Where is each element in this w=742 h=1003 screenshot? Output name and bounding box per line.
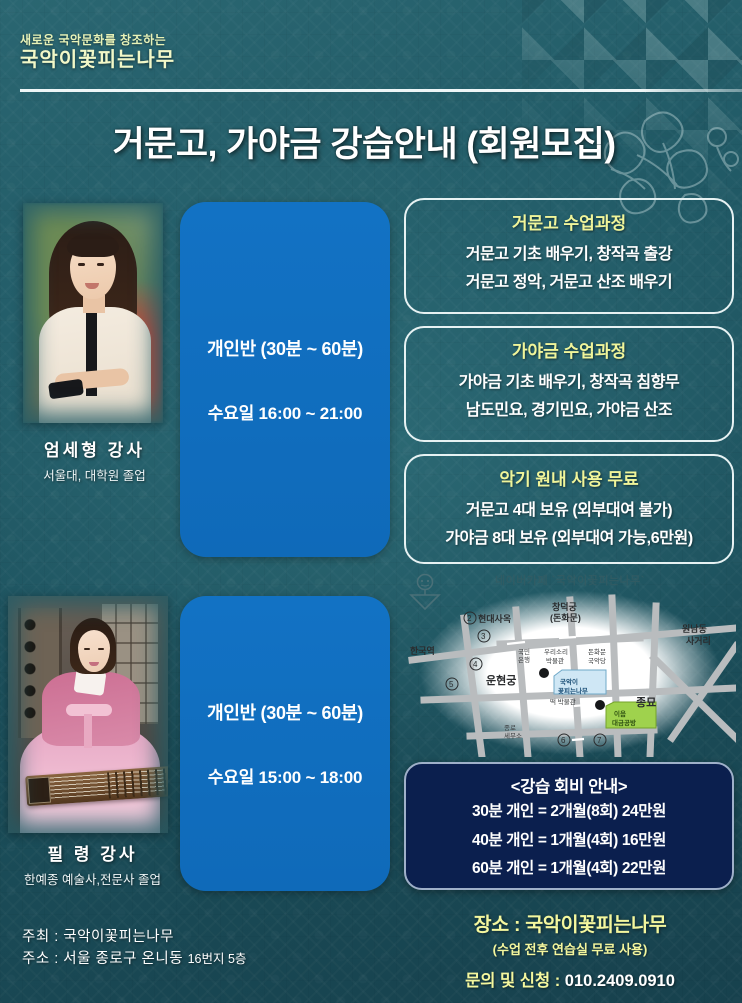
instructor-photo-1: [23, 203, 163, 423]
page-title: 거문고, 가야금 강습안내 (회원모집): [0, 116, 728, 167]
course-1-line-2: 거문고 정악, 거문고 산조 배우기: [414, 269, 724, 297]
fee-row-60min: 60분 개인 = 1개월(4회) 22만원: [406, 856, 732, 883]
map-marker-workshop: [595, 700, 605, 710]
map-label-hyundai: 현대사옥: [478, 613, 511, 624]
map-label-jongno-tax-2: 세무소: [504, 731, 522, 740]
map-label-jongno-tax: 종로: [504, 724, 516, 732]
instructor-caption-2: 필 령 강사 한예종 예술사,전문사 졸업: [0, 840, 185, 888]
footer-place: 장소 : 국악이꽃피는나무: [404, 908, 736, 937]
instructor-1-credentials: 서울대, 대학원 졸업: [2, 465, 187, 484]
map-label-woori-museum-2: 박물관: [546, 656, 564, 665]
map-exit-7: 7: [597, 736, 602, 745]
map-marker-venue: [539, 668, 549, 678]
instructor-photo-2: [8, 596, 168, 833]
map-label-jongmyo: 종묘: [636, 696, 656, 709]
brand-name: 국악이꽃피는나무: [20, 48, 175, 73]
instructor-caption-1: 엄세형 강사 서울대, 대학원 졸업: [2, 436, 187, 484]
map-exit-2: 2: [467, 614, 472, 623]
photo-2-calligraphy-characters: [24, 616, 36, 726]
footer-address: 주소 : 서울 종로구 온니동 16번지 5층: [22, 948, 246, 970]
brand-logo: 새로운 국악문화를 창조하는 국악이꽃피는나무: [20, 33, 175, 73]
footer-place-note: (수업 전후 연습실 무료 사용): [404, 939, 736, 958]
instructor-2-credentials: 한예종 예술사,전문사 졸업: [0, 869, 185, 888]
fee-row-30min: 30분 개인 = 2개월(8회) 24만원: [406, 799, 732, 826]
map-exit-5: 5: [449, 680, 454, 689]
course-2-line-2: 남도민요, 경기민요, 가야금 산조: [414, 397, 724, 425]
gayageum-headplate: [27, 777, 51, 804]
argyle-diamond-pattern: [522, 0, 742, 205]
map-label-unhyeongung: 운현궁: [486, 673, 516, 687]
course-3-line-1: 거문고 4대 보유 (외부대여 불가): [414, 497, 724, 525]
fee-heading: <강습 회비 안내>: [406, 773, 732, 797]
footer-contact-info: 장소 : 국악이꽃피는나무 (수업 전후 연습실 무료 사용) 문의 및 신청 …: [404, 908, 736, 991]
map-label-anguk-station: 한국역: [410, 645, 435, 656]
map-svg: 한국역 현대사옥 창덕궁 (돈화문) 원남동 사거리 운현궁 종묘 국민 은행 …: [404, 588, 736, 757]
photo-1-eye-right: [97, 263, 104, 266]
map-exit-3: 3: [481, 632, 486, 641]
schedule-box-1: 개인반 (30분 ~ 60분) 수요일 16:00 ~ 21:00: [180, 202, 390, 557]
map-label-kookmin-bank: 국민: [518, 647, 530, 656]
schedule-2-time: 수요일 15:00 ~ 18:00: [208, 763, 363, 788]
course-1-heading: 거문고 수업과정: [414, 209, 724, 234]
map-label-wonnamdong: 원남동: [682, 623, 707, 634]
footer-phone-number[interactable]: 010.2409.0910: [565, 972, 675, 990]
gayageum-bridges: [107, 768, 168, 798]
course-2-line-1: 가야금 기초 배우기, 창작곡 침향무: [414, 369, 724, 397]
map-label-changdeokgung: 창덕궁: [552, 601, 578, 612]
map-label-donhwamun-gugakdang-2: 국악당: [588, 656, 606, 665]
photo-1-eye-left: [78, 263, 85, 266]
map-workshop-label-1: 이음: [614, 709, 626, 718]
course-3-heading: 악기 원내 사용 무료: [414, 465, 724, 490]
poster-root: 새로운 국악문화를 창조하는 국악이꽃피는나무 거문고, 가야금 강습안내 (회…: [0, 0, 742, 1003]
course-1-line-1: 거문고 기초 배우기, 창작곡 출강: [414, 241, 724, 269]
location-map: 네이버카페 `국악이꽃피는나무`: [404, 572, 736, 757]
instructor-2-name: 필 령 강사: [0, 840, 185, 865]
brand-tagline: 새로운 국악문화를 창조하는: [20, 33, 175, 48]
map-venue-label-1: 국악이: [560, 677, 578, 686]
footer-host: 주최 : 국악이꽃피는나무: [22, 926, 246, 948]
schedule-2-class-type: 개인반 (30분 ~ 60분): [207, 699, 363, 725]
schedule-1-time: 수요일 16:00 ~ 21:00: [208, 399, 363, 424]
map-person-icon: [408, 573, 442, 611]
footer-organizer-info: 주최 : 국악이꽃피는나무 주소 : 서울 종로구 온니동 16번지 5층: [22, 926, 246, 971]
course-2-heading: 가야금 수업과정: [414, 337, 724, 362]
map-label-donhwamun-gugakdang: 돈화문: [588, 648, 606, 656]
map-label-changdeokgung-sub: (돈화문): [550, 612, 581, 623]
map-exit-4: 4: [473, 660, 478, 669]
photo-1-bangs: [67, 233, 119, 257]
course-box-gayageum: 가야금 수업과정 가야금 기초 배우기, 창작곡 침향무 남도민요, 경기민요,…: [404, 326, 734, 442]
schedule-1-class-type: 개인반 (30분 ~ 60분): [207, 335, 363, 361]
photo-2-ribbon-tail: [84, 714, 92, 748]
instructor-1-name: 엄세형 강사: [2, 436, 187, 461]
photo-2-eye-right: [98, 648, 104, 650]
header-divider: [20, 89, 742, 92]
course-box-geomungo: 거문고 수업과정 거문고 기초 배우기, 창작곡 출강 거문고 정악, 거문고 …: [404, 198, 734, 314]
fee-row-40min: 40분 개인 = 1개월(4회) 16만원: [406, 828, 732, 855]
course-box-instrument-use: 악기 원내 사용 무료 거문고 4대 보유 (외부대여 불가) 가야금 8대 보…: [404, 454, 734, 564]
map-label-kookmin-bank-2: 은행: [518, 655, 530, 664]
map-exit-6: 6: [561, 736, 566, 745]
footer-contact: 문의 및 신청 : 010.2409.0910: [404, 967, 736, 991]
map-label-tteok-museum: 떡 박물관: [550, 697, 576, 706]
course-3-line-2: 가야금 8대 보유 (외부대여 가능,6만원): [414, 525, 724, 553]
footer-contact-label: 문의 및 신청 :: [465, 972, 565, 990]
schedule-box-2: 개인반 (30분 ~ 60분) 수요일 15:00 ~ 18:00: [180, 596, 390, 891]
photo-2-eye-left: [84, 648, 90, 650]
map-venue-label-2: 꽃피는나무: [558, 686, 588, 695]
map-label-woori-museum: 우리소리: [544, 647, 568, 656]
map-workshop-label-2: 대금공방: [612, 718, 636, 727]
fee-info-box: <강습 회비 안내> 30분 개인 = 2개월(8회) 24만원 40분 개인 …: [404, 762, 734, 890]
map-label-wonnamdong-sub: 사거리: [686, 635, 711, 646]
map-title: 네이버카페 `국악이꽃피는나무`: [404, 572, 736, 588]
footer-address-main: 주소 : 서울 종로구 온니동: [22, 951, 183, 967]
footer-address-detail: 16번지 5층: [188, 952, 247, 966]
map-canvas: 한국역 현대사옥 창덕궁 (돈화문) 원남동 사거리 운현궁 종묘 국민 은행 …: [404, 588, 736, 757]
